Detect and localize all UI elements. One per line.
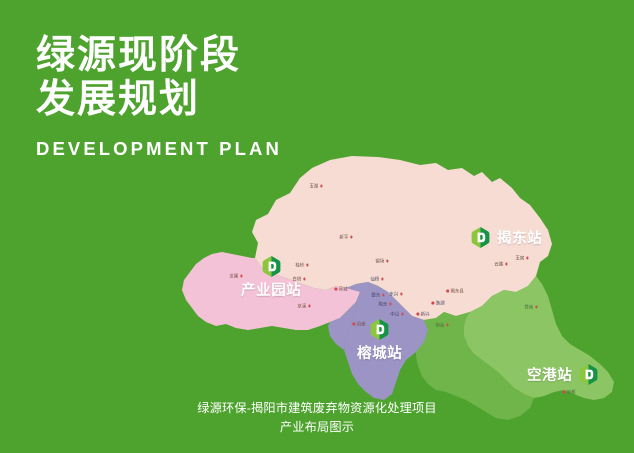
place-label: 新兴: [416, 312, 429, 317]
place-dot-icon: [350, 236, 353, 239]
place-dot-icon: [431, 302, 434, 305]
place-name: 仙桥: [370, 277, 379, 282]
place-dot-icon: [320, 185, 323, 188]
lvyuan-logo-icon: [262, 255, 281, 278]
place-dot-icon: [505, 263, 508, 266]
place-label: 炮台: [435, 323, 448, 328]
place-label: 磐东: [371, 293, 384, 298]
place-dot-icon: [381, 278, 384, 281]
place-name: 揭东县: [450, 289, 463, 294]
place-name: 梅云: [378, 302, 387, 307]
place-label: 新亨: [339, 235, 352, 240]
lvyuan-logo-icon: [471, 226, 490, 249]
station-label-jiedong: 揭东站: [497, 227, 542, 248]
station-marker-jiedong[interactable]: 揭东站: [471, 226, 542, 249]
station-label-rongcheng: 榕城站: [357, 346, 402, 362]
place-name: 新兴: [421, 312, 430, 317]
place-label: 月城: [334, 287, 347, 292]
page-subtitle: DEVELOPMENT PLAN: [36, 138, 366, 160]
place-name: 渔湖: [436, 301, 445, 306]
caption-block: 绿源环保-揭阳市建筑废弃物资源化处理项目 产业布局图示: [0, 399, 634, 437]
station-marker-rongcheng[interactable]: 榕城站: [357, 318, 402, 363]
page-title-line-2: 发展规划: [36, 78, 366, 122]
place-name: 云路: [494, 262, 503, 267]
place-label: 云路: [494, 262, 507, 267]
poster-canvas: 玉湖 新亨 锡场 云路 玉窖 揭东县 桂岭 龙尾 白塔 月城 京溪: [0, 0, 634, 453]
place-name: 炮台: [435, 323, 444, 328]
place-name: 锡场: [375, 259, 384, 264]
place-name: 东兴: [389, 292, 398, 297]
place-name: 磐东: [371, 293, 380, 298]
place-dot-icon: [389, 303, 392, 306]
lvyuan-logo-icon: [370, 318, 389, 341]
place-label: 玉窖: [515, 256, 528, 261]
place-name: 京溪: [297, 304, 306, 309]
place-name: 玉湖: [309, 184, 318, 189]
headline-block: 绿源现阶段 发展规划 DEVELOPMENT PLAN: [36, 34, 366, 160]
place-name: 龙尾: [229, 274, 238, 279]
place-dot-icon: [416, 313, 419, 316]
place-dot-icon: [535, 306, 538, 309]
place-name: 月城: [339, 287, 348, 292]
place-label: 梅云: [378, 302, 391, 307]
place-dot-icon: [386, 260, 389, 263]
place-dot-icon: [400, 293, 403, 296]
place-label: 登岗: [524, 305, 537, 310]
place-dot-icon: [562, 391, 565, 394]
place-label: 地都: [562, 390, 575, 395]
place-dot-icon: [306, 264, 309, 267]
place-name: 地都: [567, 390, 576, 395]
place-dot-icon: [401, 313, 404, 316]
place-dot-icon: [382, 294, 385, 297]
place-dot-icon: [334, 288, 337, 291]
place-dot-icon: [446, 324, 449, 327]
place-name: 玉窖: [515, 256, 524, 261]
station-marker-konggang[interactable]: 空港站: [527, 363, 598, 386]
place-label: 中山: [390, 312, 403, 317]
place-label: 东兴: [389, 292, 402, 297]
place-dot-icon: [446, 290, 449, 293]
station-marker-chanyeyuan[interactable]: 产业园站: [241, 255, 301, 300]
caption-line-1: 绿源环保-揭阳市建筑废弃物资源化处理项目: [0, 399, 634, 418]
place-label: 锡场: [375, 259, 388, 264]
station-label-konggang: 空港站: [527, 364, 572, 385]
place-name: 登岗: [524, 305, 533, 310]
place-name: 中山: [390, 312, 399, 317]
place-name: 新亨: [339, 235, 348, 240]
caption-line-2: 产业布局图示: [0, 418, 634, 437]
page-title-line-1: 绿源现阶段: [36, 34, 366, 78]
station-label-chanyeyuan: 产业园站: [241, 283, 301, 299]
place-dot-icon: [526, 257, 529, 260]
place-dot-icon: [352, 323, 355, 326]
place-label: 玉湖: [309, 184, 322, 189]
place-dot-icon: [303, 278, 306, 281]
place-label: 揭东县: [446, 289, 464, 294]
place-label: 仙桥: [370, 277, 383, 282]
place-label: 渔湖: [431, 301, 444, 306]
lvyuan-logo-icon: [579, 363, 598, 386]
place-label: 京溪: [297, 304, 310, 309]
place-dot-icon: [308, 305, 311, 308]
